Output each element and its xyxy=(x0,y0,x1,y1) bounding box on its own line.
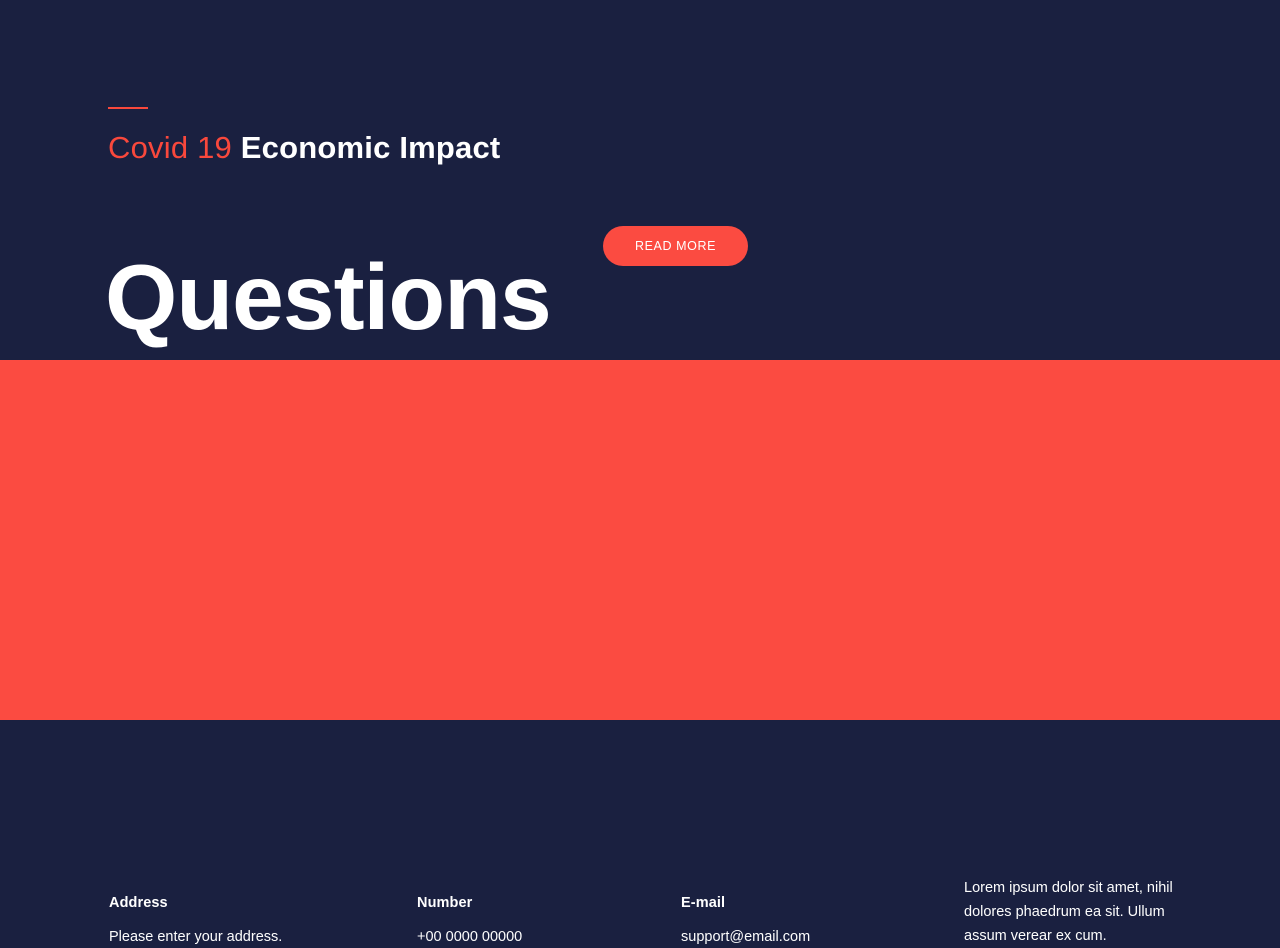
hero-section: Covid 19 Economic Impact Questions READ … xyxy=(0,0,1280,360)
hero-eyebrow-rest: Economic Impact xyxy=(232,130,501,165)
number-value: +00 0000 00000 xyxy=(417,927,522,947)
contact-column-email: E-mail support@email.com xyxy=(681,893,810,947)
hero-eyebrow: Covid 19 Economic Impact xyxy=(108,130,500,166)
contact-column-number: Number +00 0000 00000 xyxy=(417,893,522,947)
address-label: Address xyxy=(109,893,282,913)
slide-root: Covid 19 Economic Impact Questions READ … xyxy=(0,0,1280,720)
email-value[interactable]: support@email.com xyxy=(681,927,810,947)
contact-column-address: Address Please enter your address. xyxy=(109,893,282,947)
email-label: E-mail xyxy=(681,893,810,913)
read-more-button[interactable]: READ MORE xyxy=(603,226,748,266)
hero-eyebrow-highlight: Covid 19 xyxy=(108,130,232,165)
number-label: Number xyxy=(417,893,522,913)
contact-section: Address Please enter your address. Numbe… xyxy=(0,360,1280,720)
accent-rule-divider xyxy=(108,107,148,109)
address-value: Please enter your address. xyxy=(109,927,282,947)
contact-blurb: Lorem ipsum dolor sit amet, nihil dolore… xyxy=(964,876,1196,948)
page-title: Questions xyxy=(105,245,551,349)
